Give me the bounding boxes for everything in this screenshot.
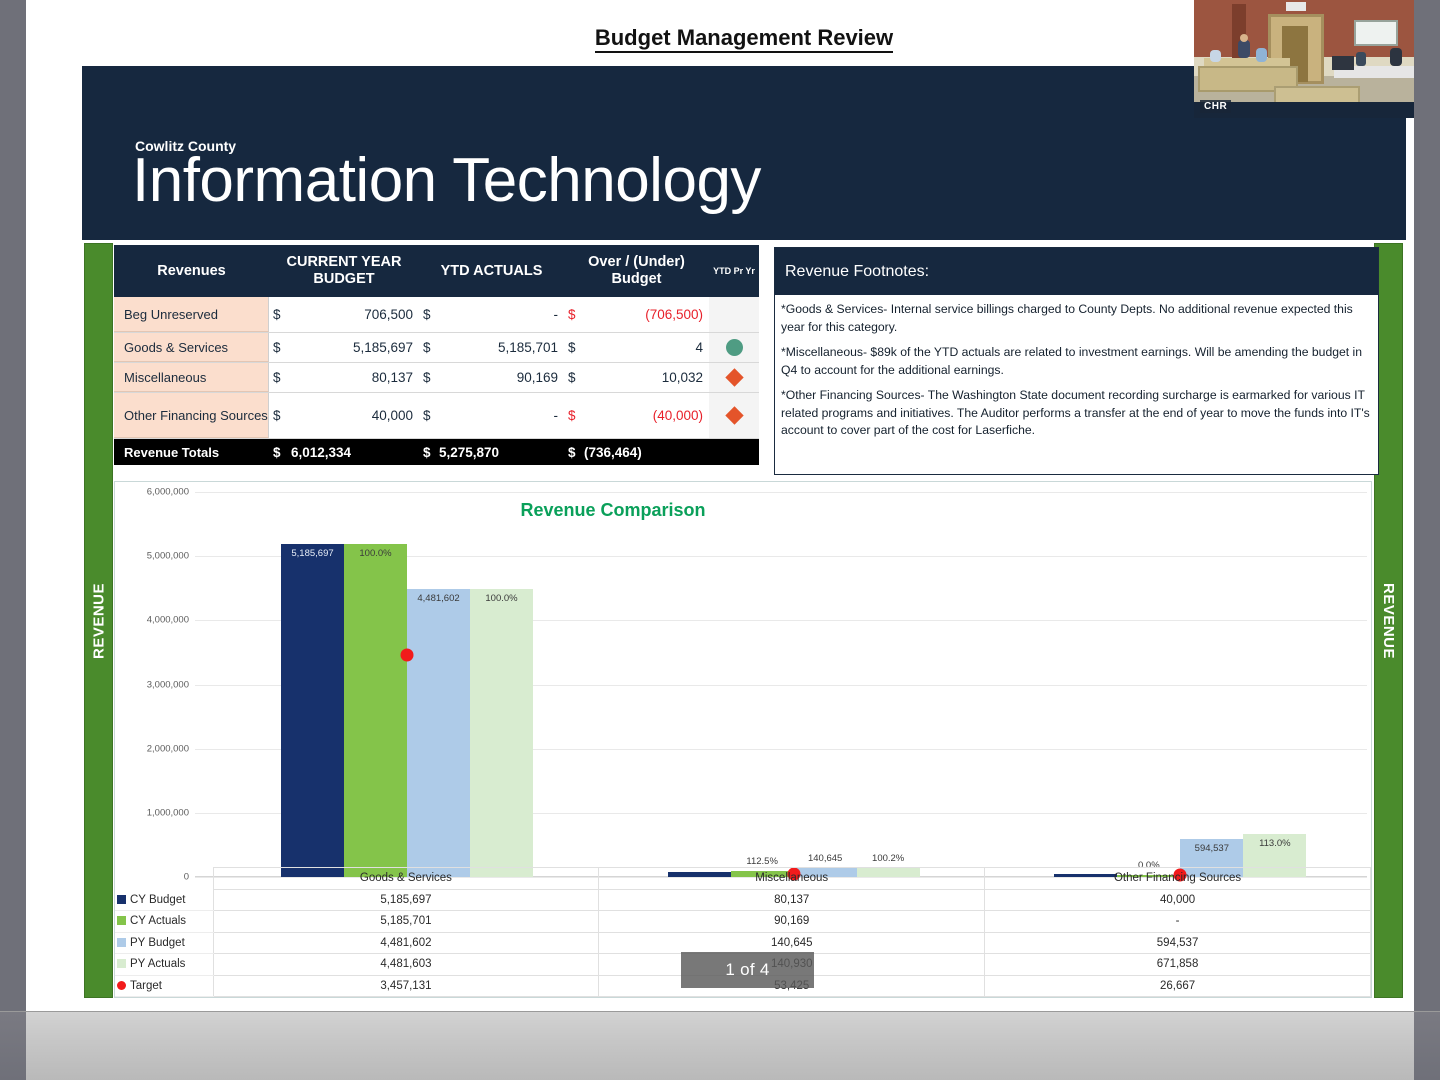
chart-legend-item: CY Budget [115,889,213,911]
revenue-category-label: Miscellaneous [114,363,269,392]
total-label: Revenue Totals [114,445,269,460]
chart-table-cell: 3,457,131 [213,975,599,997]
legend-label: CY Budget [130,894,185,906]
revenue-row: Goods & Services$5,185,697$5,185,701$4 [114,333,759,363]
currency-symbol: $ [419,363,439,392]
revenue-ytd-indicator-cell [709,333,759,362]
chart-y-axis-tick: 3,000,000 [147,679,189,690]
revenue-over-under-value: (40,000) [584,393,709,438]
currency-symbol: $ [564,297,584,332]
revenue-row: Beg Unreserved$706,500$-$(706,500) [114,297,759,333]
legend-label: Target [130,980,162,992]
revenue-budget-value: 40,000 [291,393,419,438]
status-indicator-orange-diamond [725,368,743,386]
chart-table-cell: 80,137 [599,889,985,911]
currency-symbol: $ [269,393,291,438]
legend-label: PY Budget [130,937,185,949]
total-cur-1: $ [269,445,291,460]
table-row: CY Actuals5,185,70190,169- [115,911,1371,933]
chart-y-axis-tick: 5,000,000 [147,551,189,562]
currency-symbol: $ [269,333,291,362]
footnotes-body: *Goods & Services- Internal service bill… [775,295,1378,440]
legend-swatch-icon [117,959,126,968]
video-laptop [1332,56,1354,70]
revenue-actuals-value: 90,169 [439,363,564,392]
revenue-category-label: Other Financing Sources [114,393,269,438]
revenue-ytd-indicator-cell [709,297,759,332]
col-header-over-under: Over / (Under) Budget [564,254,709,287]
chart-y-axis-tick: 4,000,000 [147,615,189,626]
revenue-table-body: Beg Unreserved$706,500$-$(706,500)Goods … [114,297,759,439]
chart-category-group: 0.0%594,537113.0% [986,492,1373,877]
currency-symbol: $ [564,393,584,438]
chart-table-cell: 26,667 [985,975,1371,997]
chart-plot-area: 6,000,0005,000,0004,000,0003,000,0002,00… [195,492,1367,877]
video-wall-screen [1354,20,1398,46]
revenue-table: Revenues CURRENT YEAR BUDGET YTD ACTUALS… [114,245,759,465]
chart-bar-label: 5,185,697 [291,548,333,559]
department-title: Information Technology [132,150,761,212]
chart-table-category-header: Other Financing Sources [985,868,1371,890]
chart-table-cell: 140,645 [599,932,985,954]
revenue-table-header: Revenues CURRENT YEAR BUDGET YTD ACTUALS… [114,245,759,297]
desktop-taskbar [0,1011,1440,1080]
col-header-revenues: Revenues [114,263,269,280]
chart-bar-cy-budget: 5,185,697 [281,544,344,877]
chart-legend-item: PY Actuals [115,954,213,976]
footnote-item: *Goods & Services- Internal service bill… [781,301,1370,336]
revenue-totals-row: Revenue Totals $ 6,012,334 $ 5,275,870 $… [114,439,759,465]
chart-table-category-header: Miscellaneous [599,868,985,890]
video-person-1-head [1240,34,1248,42]
chart-category-group: 5,185,697100.0%4,481,602100.0% [213,492,600,877]
legend-swatch-icon [117,981,126,990]
revenue-category-label: Goods & Services [114,333,269,362]
video-exit-sign [1286,2,1306,11]
table-row: PY Budget4,481,602140,645594,537 [115,932,1371,954]
chart-y-axis-tick: 1,000,000 [147,807,189,818]
chart-bar-label: 113.0% [1259,838,1291,849]
chart-bar-label: 100.2% [872,853,904,864]
currency-symbol: $ [564,333,584,362]
chart-table-cell: 4,481,603 [213,954,599,976]
video-person-3 [1210,50,1221,62]
chart-bar-label: 4,481,602 [417,593,459,604]
legend-label: CY Actuals [130,915,186,927]
chart-table-cell: 5,185,701 [213,911,599,933]
status-indicator-green-circle [726,339,743,356]
chart-table-category-header: Goods & Services [213,868,599,890]
currency-symbol: $ [564,363,584,392]
chart-bar-cy-actuals: 100.0% [344,544,407,877]
chart-table-header-row: Goods & ServicesMiscellaneousOther Finan… [115,868,1371,890]
video-person-1 [1238,40,1250,58]
chart-table-cell: 594,537 [985,932,1371,954]
total-cur-3: $ [564,445,584,460]
table-row: CY Budget5,185,69780,13740,000 [115,889,1371,911]
chart-table-corner [115,868,213,890]
revenue-actuals-value: - [439,297,564,332]
chart-table-cell: 90,169 [599,911,985,933]
chart-bar-label: 594,537 [1195,843,1229,854]
deck-title-text: Budget Management Review [595,25,893,53]
revenue-over-under-value: (706,500) [584,297,709,332]
currency-symbol: $ [269,363,291,392]
revenue-ytd-indicator-cell [709,363,759,392]
chart-legend-item: PY Budget [115,932,213,954]
page-indicator: 1 of 4 [681,952,814,988]
revenue-over-under-value: 4 [584,333,709,362]
chart-table-cell: - [985,911,1371,933]
revenue-actuals-value: - [439,393,564,438]
presentation-window: Budget Management Review Cowlitz County … [0,0,1440,1080]
revenue-rail-left: REVENUE [84,243,113,998]
video-person-5 [1390,48,1402,66]
chart-bar-label: 112.5% [746,856,778,867]
chart-table-cell: 40,000 [985,889,1371,911]
chart-bar-py-budget: 4,481,602 [407,589,470,877]
chart-legend-item: Target [115,975,213,997]
col-header-ytd-actuals: YTD ACTUALS [419,263,564,280]
revenue-category-label: Beg Unreserved [114,297,269,332]
chart-bar-label: 140,645 [808,853,842,864]
chart-bar-py-actuals: 100.0% [470,589,533,877]
total-actuals: 5,275,870 [439,445,564,460]
legend-swatch-icon [117,916,126,925]
revenue-ytd-indicator-cell [709,393,759,438]
chart-bar-label: 100.0% [359,548,391,559]
total-budget: 6,012,334 [291,445,419,460]
col-header-ytd-pr-yr: YTD Pr Yr [709,266,759,276]
chart-table-cell: 671,858 [985,954,1371,976]
footnotes-title: Revenue Footnotes: [775,248,1378,295]
currency-symbol: $ [419,333,439,362]
chart-category-group: 112.5%140,645100.2% [600,492,987,877]
chart-y-axis-tick: 6,000,000 [147,487,189,498]
chart-legend-item: CY Actuals [115,911,213,933]
currency-symbol: $ [419,297,439,332]
total-cur-2: $ [419,445,439,460]
revenue-budget-value: 706,500 [291,297,419,332]
revenue-budget-value: 5,185,697 [291,333,419,362]
video-participant-label: CHR [1200,100,1231,113]
revenue-actuals-value: 5,185,701 [439,333,564,362]
col-header-current-year: CURRENT YEAR BUDGET [269,254,419,287]
video-person-2 [1256,48,1267,62]
chart-table-cell: 5,185,697 [213,889,599,911]
rail-label-right: REVENUE [1380,582,1397,658]
participant-video-tile[interactable]: CHR [1194,0,1414,118]
slide-canvas: Budget Management Review Cowlitz County … [26,0,1414,1011]
revenue-footnotes-panel: Revenue Footnotes: *Goods & Services- In… [774,247,1379,475]
chart-target-marker [401,649,414,662]
currency-symbol: $ [269,297,291,332]
revenue-budget-value: 80,137 [291,363,419,392]
revenue-comparison-chart: Revenue Comparison 6,000,0005,000,0004,0… [114,481,1372,998]
revenue-row: Miscellaneous$80,137$90,169$10,032 [114,363,759,393]
revenue-over-under-value: 10,032 [584,363,709,392]
footnote-item: *Miscellaneous- $89k of the YTD actuals … [781,344,1370,379]
total-over-under: (736,464) [584,445,709,460]
rail-label-left: REVENUE [90,582,107,658]
video-person-4 [1356,52,1366,66]
currency-symbol: $ [419,393,439,438]
legend-swatch-icon [117,895,126,904]
chart-table-cell: 4,481,602 [213,932,599,954]
legend-label: PY Actuals [130,958,185,970]
chart-bar-label: 100.0% [485,593,517,604]
status-indicator-orange-diamond [725,406,743,424]
revenue-row: Other Financing Sources$40,000$-$(40,000… [114,393,759,439]
legend-swatch-icon [117,938,126,947]
chart-y-axis-tick: 2,000,000 [147,743,189,754]
footnote-item: *Other Financing Sources- The Washington… [781,387,1370,440]
